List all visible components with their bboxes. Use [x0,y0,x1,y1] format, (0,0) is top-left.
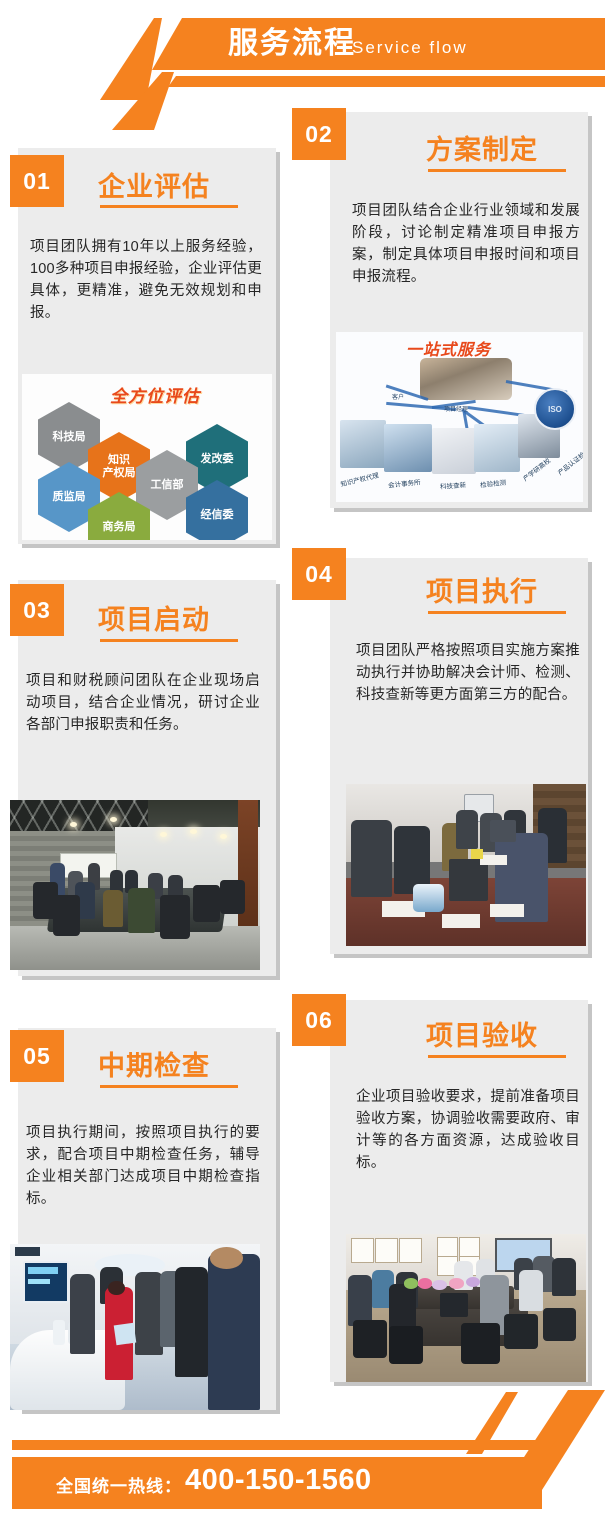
card-06-desc: 企业项目验收要求，提前准备项目验收方案，协调验收需要政府、审计等的各方面资源，达… [356,1086,580,1174]
card-06-badge: 06 [292,994,346,1046]
hexagon-diagram: 全方位评估 科技局 知识 产权局 发改委 质监局 工信部 商务局 经信委 [22,374,272,540]
card-06-title: 项目验收 [426,1014,538,1053]
one-stop-service-diagram: 一站式服务 客户 项目经理 ISO 知识产权代理 会计事务所 科技查新 检验检测… [336,332,583,502]
one-stop-bottom-label-4: 检验检测 [480,477,507,490]
one-stop-tile-3 [432,428,476,474]
card-03-title-rule [100,639,238,642]
page-title: 服务流程 [228,24,356,64]
card-03-title: 项目启动 [98,598,210,637]
one-stop-label-pm: 项目经理 [444,404,468,413]
one-stop-tile-4 [474,424,520,472]
photo-site-visit [10,1244,260,1410]
card-01-desc: 项目团队拥有10年以上服务经验，100多种项目申报经验，企业评估更具体，更精准，… [30,236,262,324]
photo-meeting-room [10,800,260,970]
card-03-badge: 03 [10,584,64,636]
footer-hotline-number[interactable]: 400-150-1560 [185,1464,372,1497]
one-stop-bottom-label-3: 科技查新 [440,479,467,491]
card-05-title-rule [100,1085,238,1088]
card-03-desc: 项目和财税顾问团队在企业现场启动项目，结合企业情况，研讨企业各部门申报职责和任务… [26,670,260,736]
card-05-desc: 项目执行期间，按照项目执行的要求，配合项目中期检查任务，辅导企业相关部门达成项目… [26,1122,260,1210]
card-02-title: 方案制定 [426,128,538,167]
card-01-badge: 01 [10,155,64,207]
card-01-title: 企业评估 [98,165,210,204]
header-banner-underbar [168,76,605,87]
card-02-badge: 02 [292,108,346,160]
card-05-title: 中期检查 [98,1044,210,1083]
one-stop-bottom-label-5: 产学研高校 [520,455,552,483]
one-stop-tile-1 [340,420,386,468]
card-05-badge: 05 [10,1030,64,1082]
card-04-badge: 04 [292,548,346,600]
footer-thin-bar [12,1440,557,1450]
one-stop-title: 一站式服务 [406,336,491,360]
card-06-title-rule [428,1055,566,1058]
card-04-title: 项目执行 [426,570,538,609]
hexagon-diagram-title: 全方位评估 [110,382,200,407]
footer-hotline-label: 全国统一热线： [56,1472,182,1497]
photo-working-session [346,784,586,946]
page-header: 服务流程 Service flow [0,0,605,100]
card-01-title-rule [100,205,238,208]
page-subtitle: Service flow [352,34,468,62]
card-02-title-rule [428,169,566,172]
card-02-desc: 项目团队结合企业行业领域和发展阶段，讨论制定精准项目申报方案，制定具体项目申报时… [352,200,580,288]
one-stop-hub-photo [420,358,512,400]
card-04-desc: 项目团队严格按照项目实施方案推动执行并协助解决会计师、检测、科技查新等更方面第三… [356,640,580,706]
one-stop-iso-seal: ISO [534,388,576,430]
one-stop-label-customer: 客户 [392,392,404,401]
one-stop-bottom-label-2: 会计事务所 [388,476,421,489]
one-stop-tile-2 [384,424,432,472]
one-stop-bottom-label-1: 知识产权代理 [339,469,379,488]
photo-conference [346,1234,586,1382]
card-04-title-rule [428,611,566,614]
